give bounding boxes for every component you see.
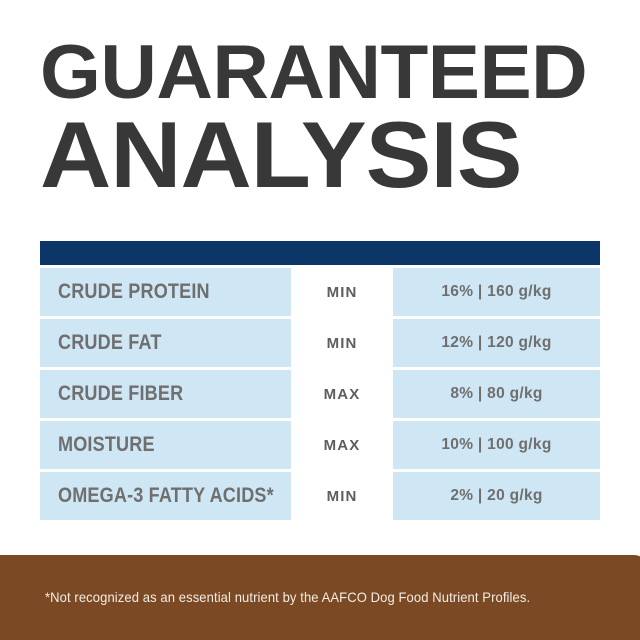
nutrient-limit-cell: MIN <box>291 472 393 520</box>
table-row: OMEGA-3 FATTY ACIDS* MIN 2% | 20 g/kg <box>40 472 600 520</box>
nutrient-name-cell: CRUDE FAT <box>40 319 291 367</box>
nutrient-name-cell: CRUDE FIBER <box>40 370 291 418</box>
nutrient-limit-label: MAX <box>324 437 361 454</box>
nutrient-value-label: 10% | 100 g/kg <box>441 436 551 454</box>
nutrient-limit-cell: MAX <box>291 421 393 469</box>
guaranteed-analysis-table: CRUDE PROTEIN MIN 16% | 160 g/kg CRUDE F… <box>40 241 600 520</box>
nutrient-value-label: 8% | 80 g/kg <box>450 385 542 403</box>
nutrient-limit-label: MIN <box>327 284 358 301</box>
table-row: CRUDE PROTEIN MIN 16% | 160 g/kg <box>40 268 600 316</box>
nutrient-limit-cell: MIN <box>291 319 393 367</box>
nutrient-name-label: MOISTURE <box>58 433 155 457</box>
nutrient-value-cell: 10% | 100 g/kg <box>393 421 600 469</box>
table-row: CRUDE FIBER MAX 8% | 80 g/kg <box>40 370 600 418</box>
nutrient-name-cell: CRUDE PROTEIN <box>40 268 291 316</box>
title-line-analysis: ANALYSIS <box>40 110 630 200</box>
nutrient-name-label: OMEGA-3 FATTY ACIDS* <box>58 484 274 508</box>
nutrient-name-cell: MOISTURE <box>40 421 291 469</box>
table-row: MOISTURE MAX 10% | 100 g/kg <box>40 421 600 469</box>
nutrient-limit-label: MAX <box>324 386 361 403</box>
nutrient-value-cell: 8% | 80 g/kg <box>393 370 600 418</box>
nutrient-name-label: CRUDE FIBER <box>58 382 183 406</box>
nutrient-limit-label: MIN <box>327 488 358 505</box>
nutrient-limit-cell: MAX <box>291 370 393 418</box>
guaranteed-analysis-panel: GUARANTEED ANALYSIS CRUDE PROTEIN MIN 16… <box>0 0 640 640</box>
nutrient-limit-cell: MIN <box>291 268 393 316</box>
table-header-bar <box>40 241 600 265</box>
nutrient-value-cell: 12% | 120 g/kg <box>393 319 600 367</box>
nutrient-name-label: CRUDE PROTEIN <box>58 280 210 304</box>
nutrient-value-cell: 16% | 160 g/kg <box>393 268 600 316</box>
title-line-guaranteed: GUARANTEED <box>40 36 619 110</box>
nutrient-limit-label: MIN <box>327 335 358 352</box>
nutrient-name-cell: OMEGA-3 FATTY ACIDS* <box>40 472 291 520</box>
footnote-text: *Not recognized as an essential nutrient… <box>45 589 530 605</box>
table-row: CRUDE FAT MIN 12% | 120 g/kg <box>40 319 600 367</box>
page-title: GUARANTEED ANALYSIS <box>40 36 602 200</box>
nutrient-value-label: 2% | 20 g/kg <box>450 487 542 505</box>
nutrient-value-label: 12% | 120 g/kg <box>441 334 551 352</box>
nutrient-value-cell: 2% | 20 g/kg <box>393 472 600 520</box>
nutrient-value-label: 16% | 160 g/kg <box>441 283 551 301</box>
footnote-panel: *Not recognized as an essential nutrient… <box>0 555 640 640</box>
nutrient-name-label: CRUDE FAT <box>58 331 162 355</box>
